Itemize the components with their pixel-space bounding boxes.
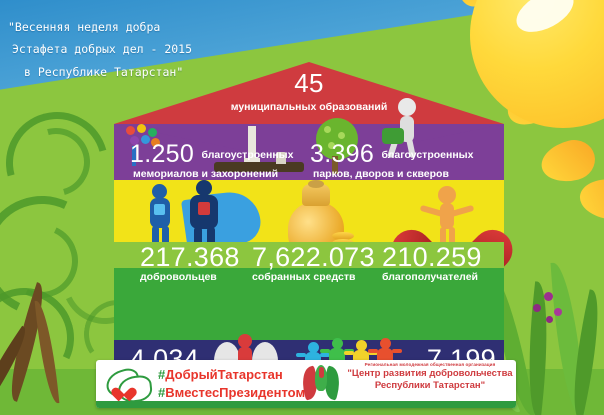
infographic-poster: "Весенняя неделя добра Эстафета добрых д… bbox=[0, 0, 604, 415]
hashtags: #ДобрыйТатарстан #ВместесПрезидентом bbox=[158, 366, 305, 401]
house-chart: 45 муниципальных образований bbox=[114, 62, 504, 357]
hashtag-vmeste-s-prezidentom[interactable]: #ВместесПрезидентом bbox=[158, 384, 305, 402]
stat-caption-line1: благоустроенных bbox=[382, 150, 474, 161]
leaf-tulip-icon bbox=[302, 365, 342, 403]
stat-value: 3.396 bbox=[310, 142, 374, 167]
hashtag-dobryi-tatarstan[interactable]: #ДобрыйТатарстан bbox=[158, 366, 305, 384]
stat-parks: 3.396 благоустроенных парков, дворов и с… bbox=[310, 142, 510, 183]
stat-volunteers: 217.368 добровольцев bbox=[140, 244, 240, 283]
stat-municipalities: 45 муниципальных образований bbox=[114, 68, 504, 113]
hashtag-text: ДобрыйТатарстан bbox=[165, 367, 283, 382]
stat-value: 1.250 bbox=[130, 142, 194, 167]
stat-beneficiaries: 210.259 благополучателей bbox=[382, 244, 482, 283]
stat-caption-line1: благоустроенных bbox=[202, 150, 294, 161]
stat-funds: 7,622.073 собранных средств bbox=[252, 244, 375, 283]
footer-accent-bar bbox=[96, 401, 516, 408]
stat-caption-line2: мемориалов и захоронений bbox=[133, 169, 278, 180]
hands-heart-icon bbox=[104, 366, 154, 402]
footer-bar: #ДобрыйТатарстан #ВместесПрезидентом Рег… bbox=[96, 360, 516, 408]
stat-caption: муниципальных образований bbox=[114, 101, 504, 113]
title-line-1: "Весенняя неделя добра bbox=[8, 16, 248, 38]
org-type: Региональная молодежная общественная орг… bbox=[344, 362, 516, 367]
org-name-line-2: Республики Татарстан" bbox=[344, 380, 516, 392]
organization-block: Региональная молодежная общественная орг… bbox=[344, 362, 516, 392]
org-name-line-1: "Центр развития добровольчества bbox=[344, 368, 516, 380]
stat-caption: добровольцев bbox=[140, 272, 240, 283]
stat-value: 45 bbox=[114, 68, 504, 99]
title-line-2: Эстафета добрых дел - 2015 bbox=[8, 38, 248, 60]
stat-value: 210.259 bbox=[382, 244, 482, 271]
stat-value: 217.368 bbox=[140, 244, 240, 271]
stat-caption-line2: парков, дворов и скверов bbox=[313, 169, 449, 180]
stat-caption: благополучателей bbox=[382, 272, 482, 283]
stat-caption: собранных средств bbox=[252, 272, 375, 283]
hashtag-text: ВместесПрезидентом bbox=[165, 385, 305, 400]
stat-memorials: 1.250 благоустроенных мемориалов и захор… bbox=[130, 142, 340, 183]
stat-value: 7,622.073 bbox=[252, 244, 375, 271]
